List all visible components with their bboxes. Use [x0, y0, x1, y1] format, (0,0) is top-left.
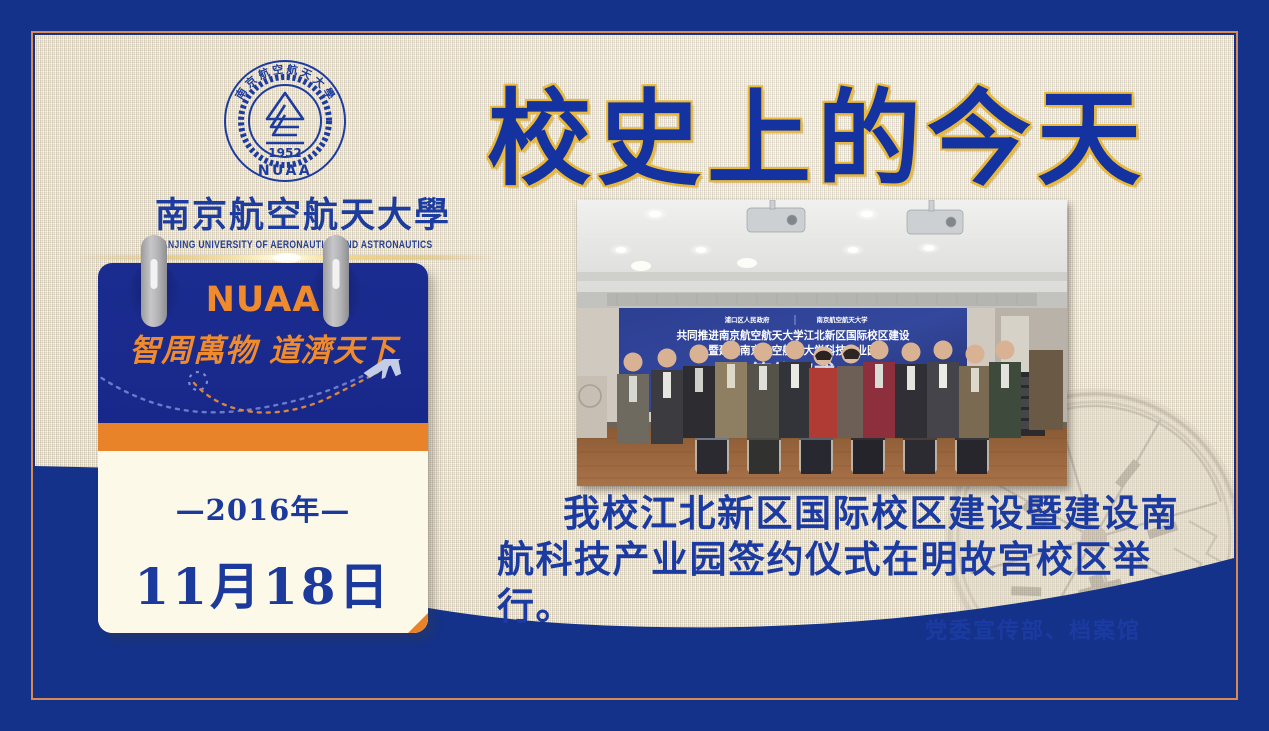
calendar-date-area: —2016年— 11月18日: [98, 487, 428, 633]
folded-corner-icon: [372, 613, 428, 633]
airplane-icon: [98, 359, 428, 423]
calendar-year: —2016年—: [98, 487, 428, 529]
poster-root: 1952 NUAA 南 京 航 空 航 天 大 學 南京航空航天大學 NANJI…: [0, 0, 1269, 731]
calendar-card: NUAA 智周萬物 道濟天下 —2016年—: [98, 235, 448, 645]
calendar-date: 11月18日: [98, 547, 428, 619]
binder-clip-right[interactable]: [323, 235, 349, 327]
calendar-divider-band: [98, 423, 428, 451]
binder-clip-left[interactable]: [141, 235, 167, 327]
